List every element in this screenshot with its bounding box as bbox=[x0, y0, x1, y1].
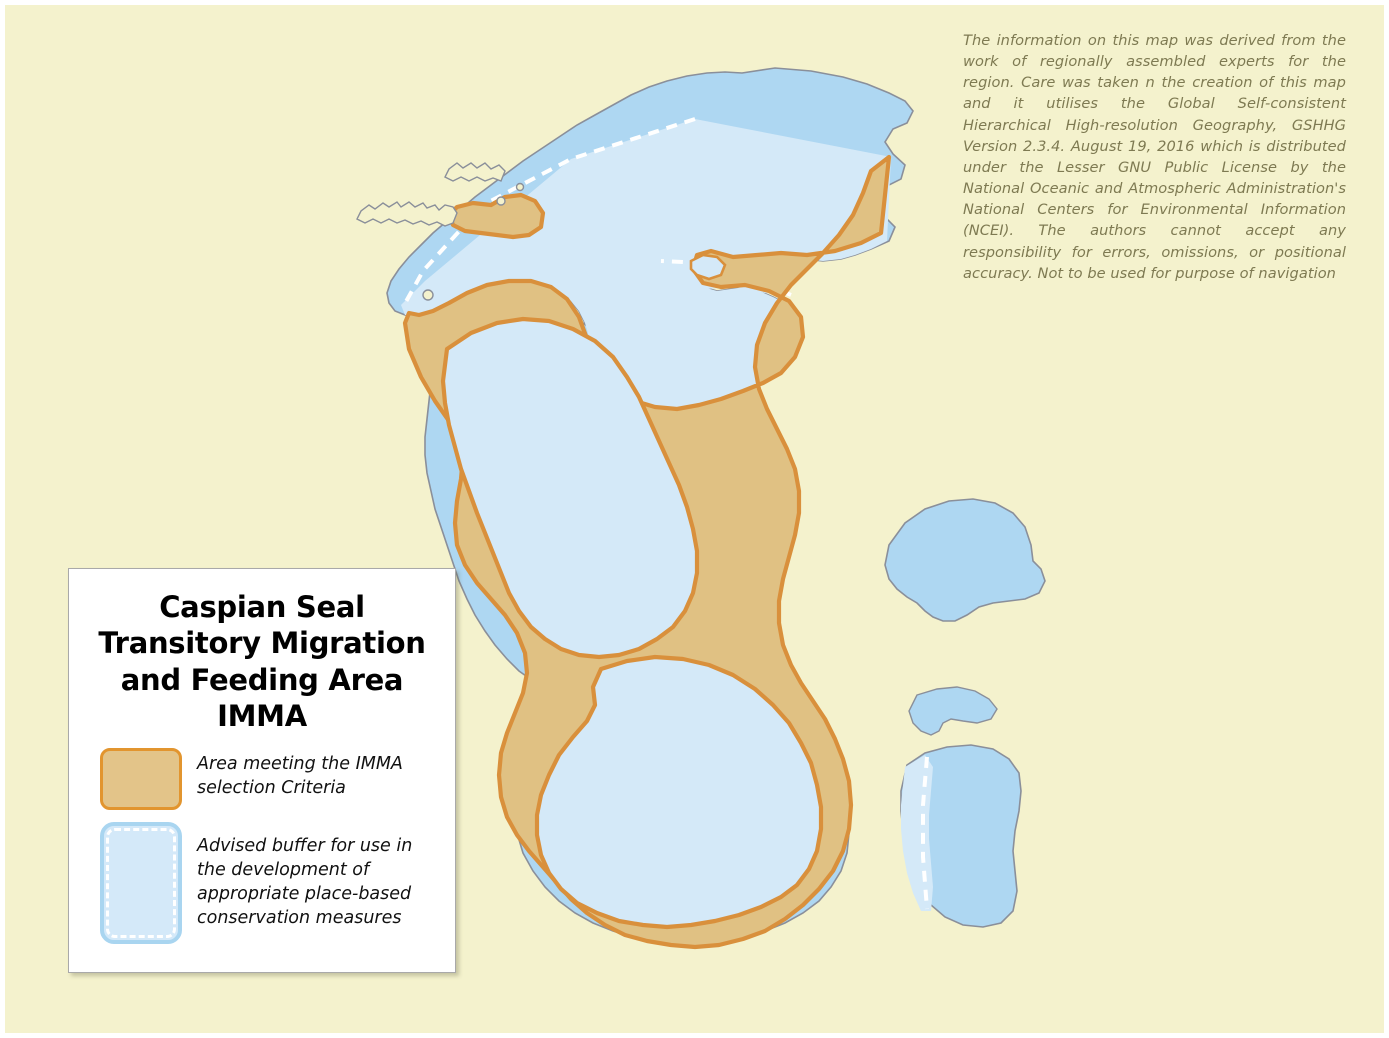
volga-delta-fringe bbox=[357, 202, 457, 226]
legend-label-advised-buffer: Advised buffer for use in the developmen… bbox=[197, 822, 439, 931]
legend-title-line-3: and Feeding Area bbox=[87, 662, 437, 698]
buffer-southeast-bay bbox=[901, 755, 933, 911]
map-disclaimer-text: The information on this map was derived … bbox=[963, 30, 1346, 284]
map-root: The information on this map was derived … bbox=[0, 0, 1389, 1038]
legend-swatch-cell bbox=[85, 822, 197, 944]
legend-label-imma-area: Area meeting the IMMA selection Criteria bbox=[197, 748, 439, 800]
delta-islet-2 bbox=[517, 184, 524, 191]
advised-buffer-swatch-icon bbox=[100, 822, 182, 944]
imma-hole-north-islet bbox=[691, 255, 725, 279]
volga-delta-fringe-upper bbox=[445, 163, 505, 181]
map-legend: Caspian Seal Transitory Migration and Fe… bbox=[68, 568, 456, 973]
east-coast-bay-small bbox=[909, 687, 997, 735]
legend-swatch-cell bbox=[85, 748, 197, 810]
kara-bogaz-gol-lagoon bbox=[885, 499, 1045, 621]
legend-title: Caspian Seal Transitory Migration and Fe… bbox=[87, 589, 437, 734]
legend-title-line-1: Caspian Seal bbox=[87, 589, 437, 625]
legend-item-imma-area: Area meeting the IMMA selection Criteria bbox=[85, 748, 439, 810]
imma-area-swatch-icon bbox=[100, 748, 182, 810]
legend-title-line-2: Transitory Migration bbox=[87, 625, 437, 661]
delta-islet-3 bbox=[423, 290, 433, 300]
legend-title-line-4: IMMA bbox=[87, 698, 437, 734]
imma-northwest-lobe bbox=[449, 195, 543, 237]
delta-islet-1 bbox=[497, 197, 505, 205]
legend-item-advised-buffer: Advised buffer for use in the developmen… bbox=[85, 822, 439, 944]
